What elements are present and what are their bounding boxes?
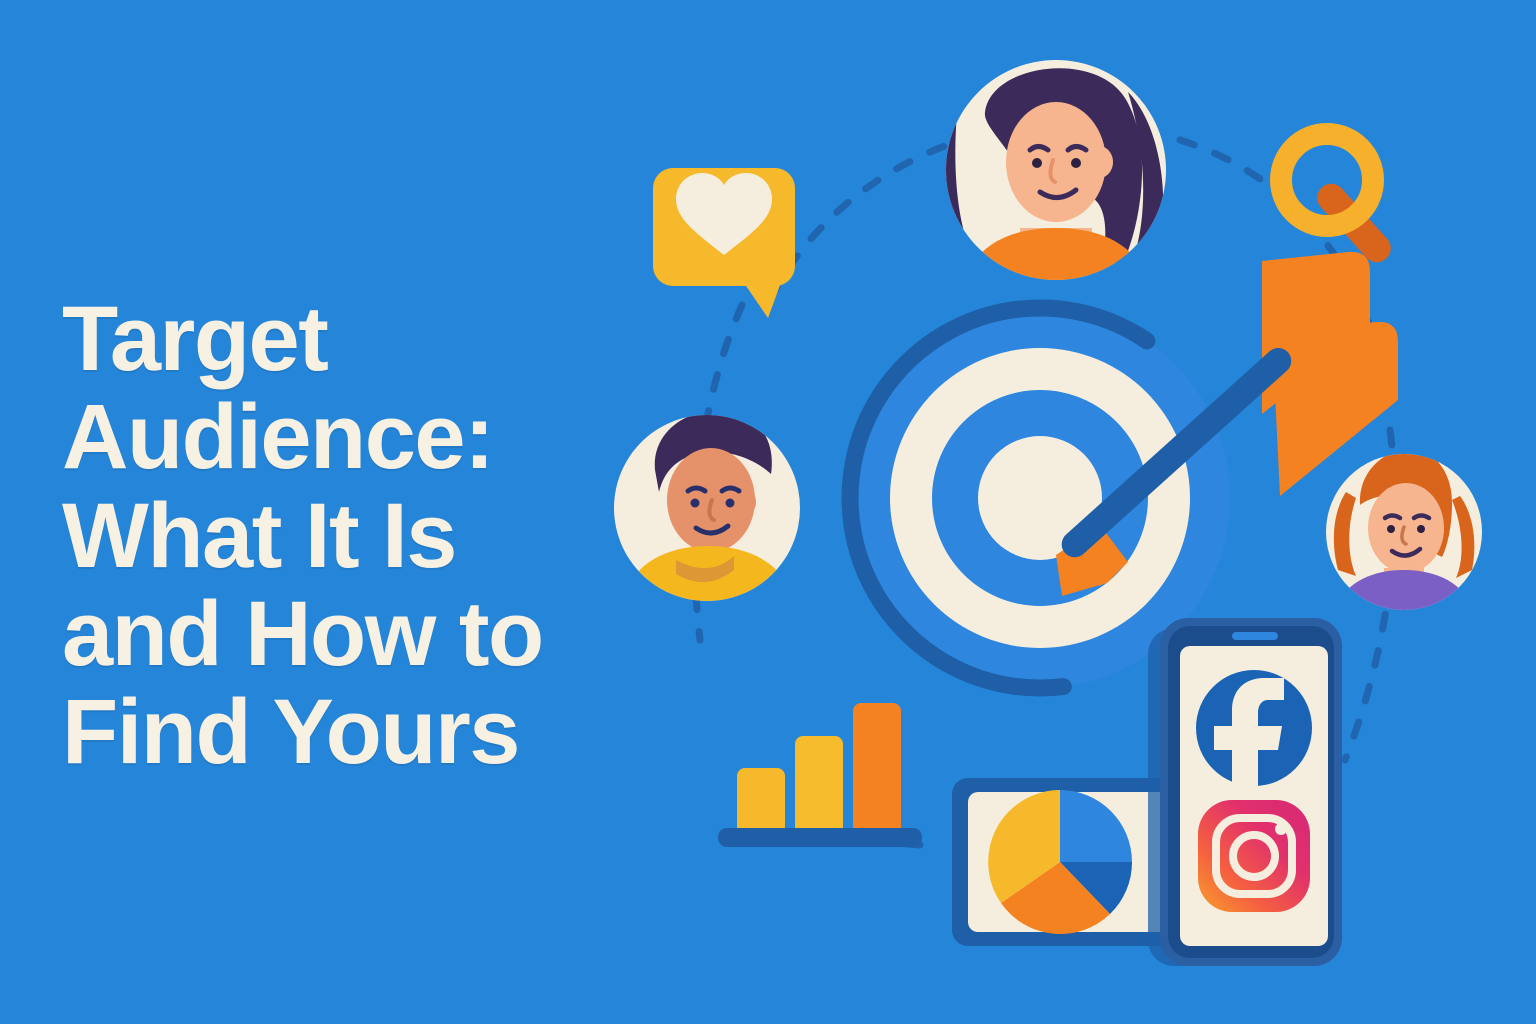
illustration (0, 0, 1536, 1024)
heart-speech-bubble (653, 168, 795, 318)
bar-3 (853, 703, 901, 834)
avatar-top (932, 60, 1166, 300)
magnifier-icon (1281, 134, 1397, 268)
pie-chart (988, 790, 1132, 934)
smartphone (1148, 618, 1342, 966)
avatar-left (614, 410, 800, 608)
bar-chart-baseline (718, 828, 922, 847)
bar-1 (737, 768, 785, 834)
avatar-right (1326, 449, 1482, 622)
bar-2 (795, 736, 843, 834)
instagram-icon[interactable] (1198, 800, 1310, 912)
illustration-svg (0, 0, 1536, 1024)
illustration-canvas: Target Audience: What It Is and How to F… (0, 0, 1536, 1024)
bar-chart-icon (718, 703, 922, 847)
